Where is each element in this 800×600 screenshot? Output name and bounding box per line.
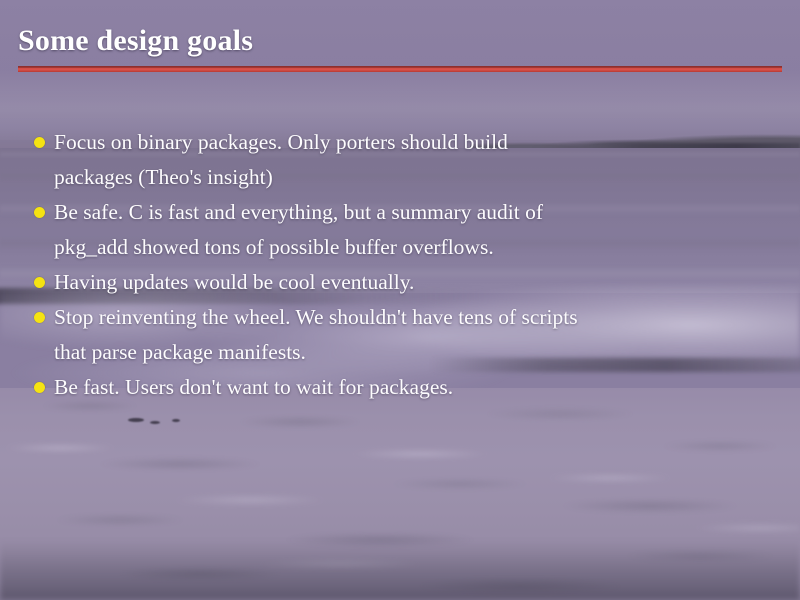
bullet-dot-icon	[34, 137, 45, 148]
title-underline-rule	[18, 66, 782, 72]
slide-title: Some design goals	[18, 24, 253, 58]
list-item-text: Be fast. Users don't want to wait for pa…	[54, 370, 775, 405]
presentation-slide: Some design goals Focus on binary packag…	[0, 0, 800, 600]
bullet-dot-icon	[34, 207, 45, 218]
slide-content: Some design goals Focus on binary packag…	[0, 0, 800, 600]
list-item: Having updates would be cool eventually.	[30, 265, 775, 300]
bullet-list: Focus on binary packages. Only porters s…	[30, 125, 775, 405]
list-item-text: Be safe. C is fast and everything, but a…	[54, 195, 775, 265]
bullet-dot-icon	[34, 382, 45, 393]
list-item: Be safe. C is fast and everything, but a…	[30, 195, 775, 265]
list-item-text: Having updates would be cool eventually.	[54, 265, 775, 300]
list-item-text: Stop reinventing the wheel. We shouldn't…	[54, 300, 775, 370]
list-item-text: Focus on binary packages. Only porters s…	[54, 125, 775, 195]
list-item: Be fast. Users don't want to wait for pa…	[30, 370, 775, 405]
list-item: Focus on binary packages. Only porters s…	[30, 125, 775, 195]
bullet-dot-icon	[34, 277, 45, 288]
bullet-dot-icon	[34, 312, 45, 323]
list-item: Stop reinventing the wheel. We shouldn't…	[30, 300, 775, 370]
